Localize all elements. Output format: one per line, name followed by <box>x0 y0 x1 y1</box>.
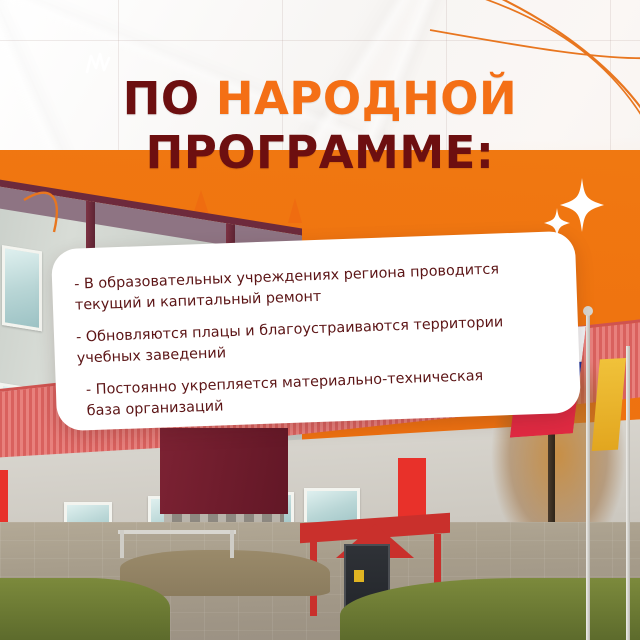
poster-canvas: ПО НАРОДНОЙ ПРОГРАММЕ: - В образовательн… <box>0 0 640 640</box>
bullet-item-2: - Обновляются плацы и благоустраиваются … <box>76 311 553 370</box>
title-line-2: ПРОГРАММЕ: <box>0 126 640 180</box>
bullet-item-3: - Постоянно укрепляется материально-техн… <box>78 364 555 423</box>
bullet-list: - В образовательных учреждениях региона … <box>74 258 555 423</box>
title-line-1: ПО НАРОДНОЙ <box>0 72 640 126</box>
poster-title: ПО НАРОДНОЙ ПРОГРАММЕ: <box>0 72 640 180</box>
bullet-item-1: - В образовательных учреждениях региона … <box>74 258 551 317</box>
title-line-1-accent: НАРОДНОЙ <box>216 72 517 125</box>
sparkle-top-left <box>85 52 111 74</box>
title-line-1-prefix: ПО <box>123 72 216 125</box>
bullet-card: - В образовательных учреждениях региона … <box>51 231 581 432</box>
